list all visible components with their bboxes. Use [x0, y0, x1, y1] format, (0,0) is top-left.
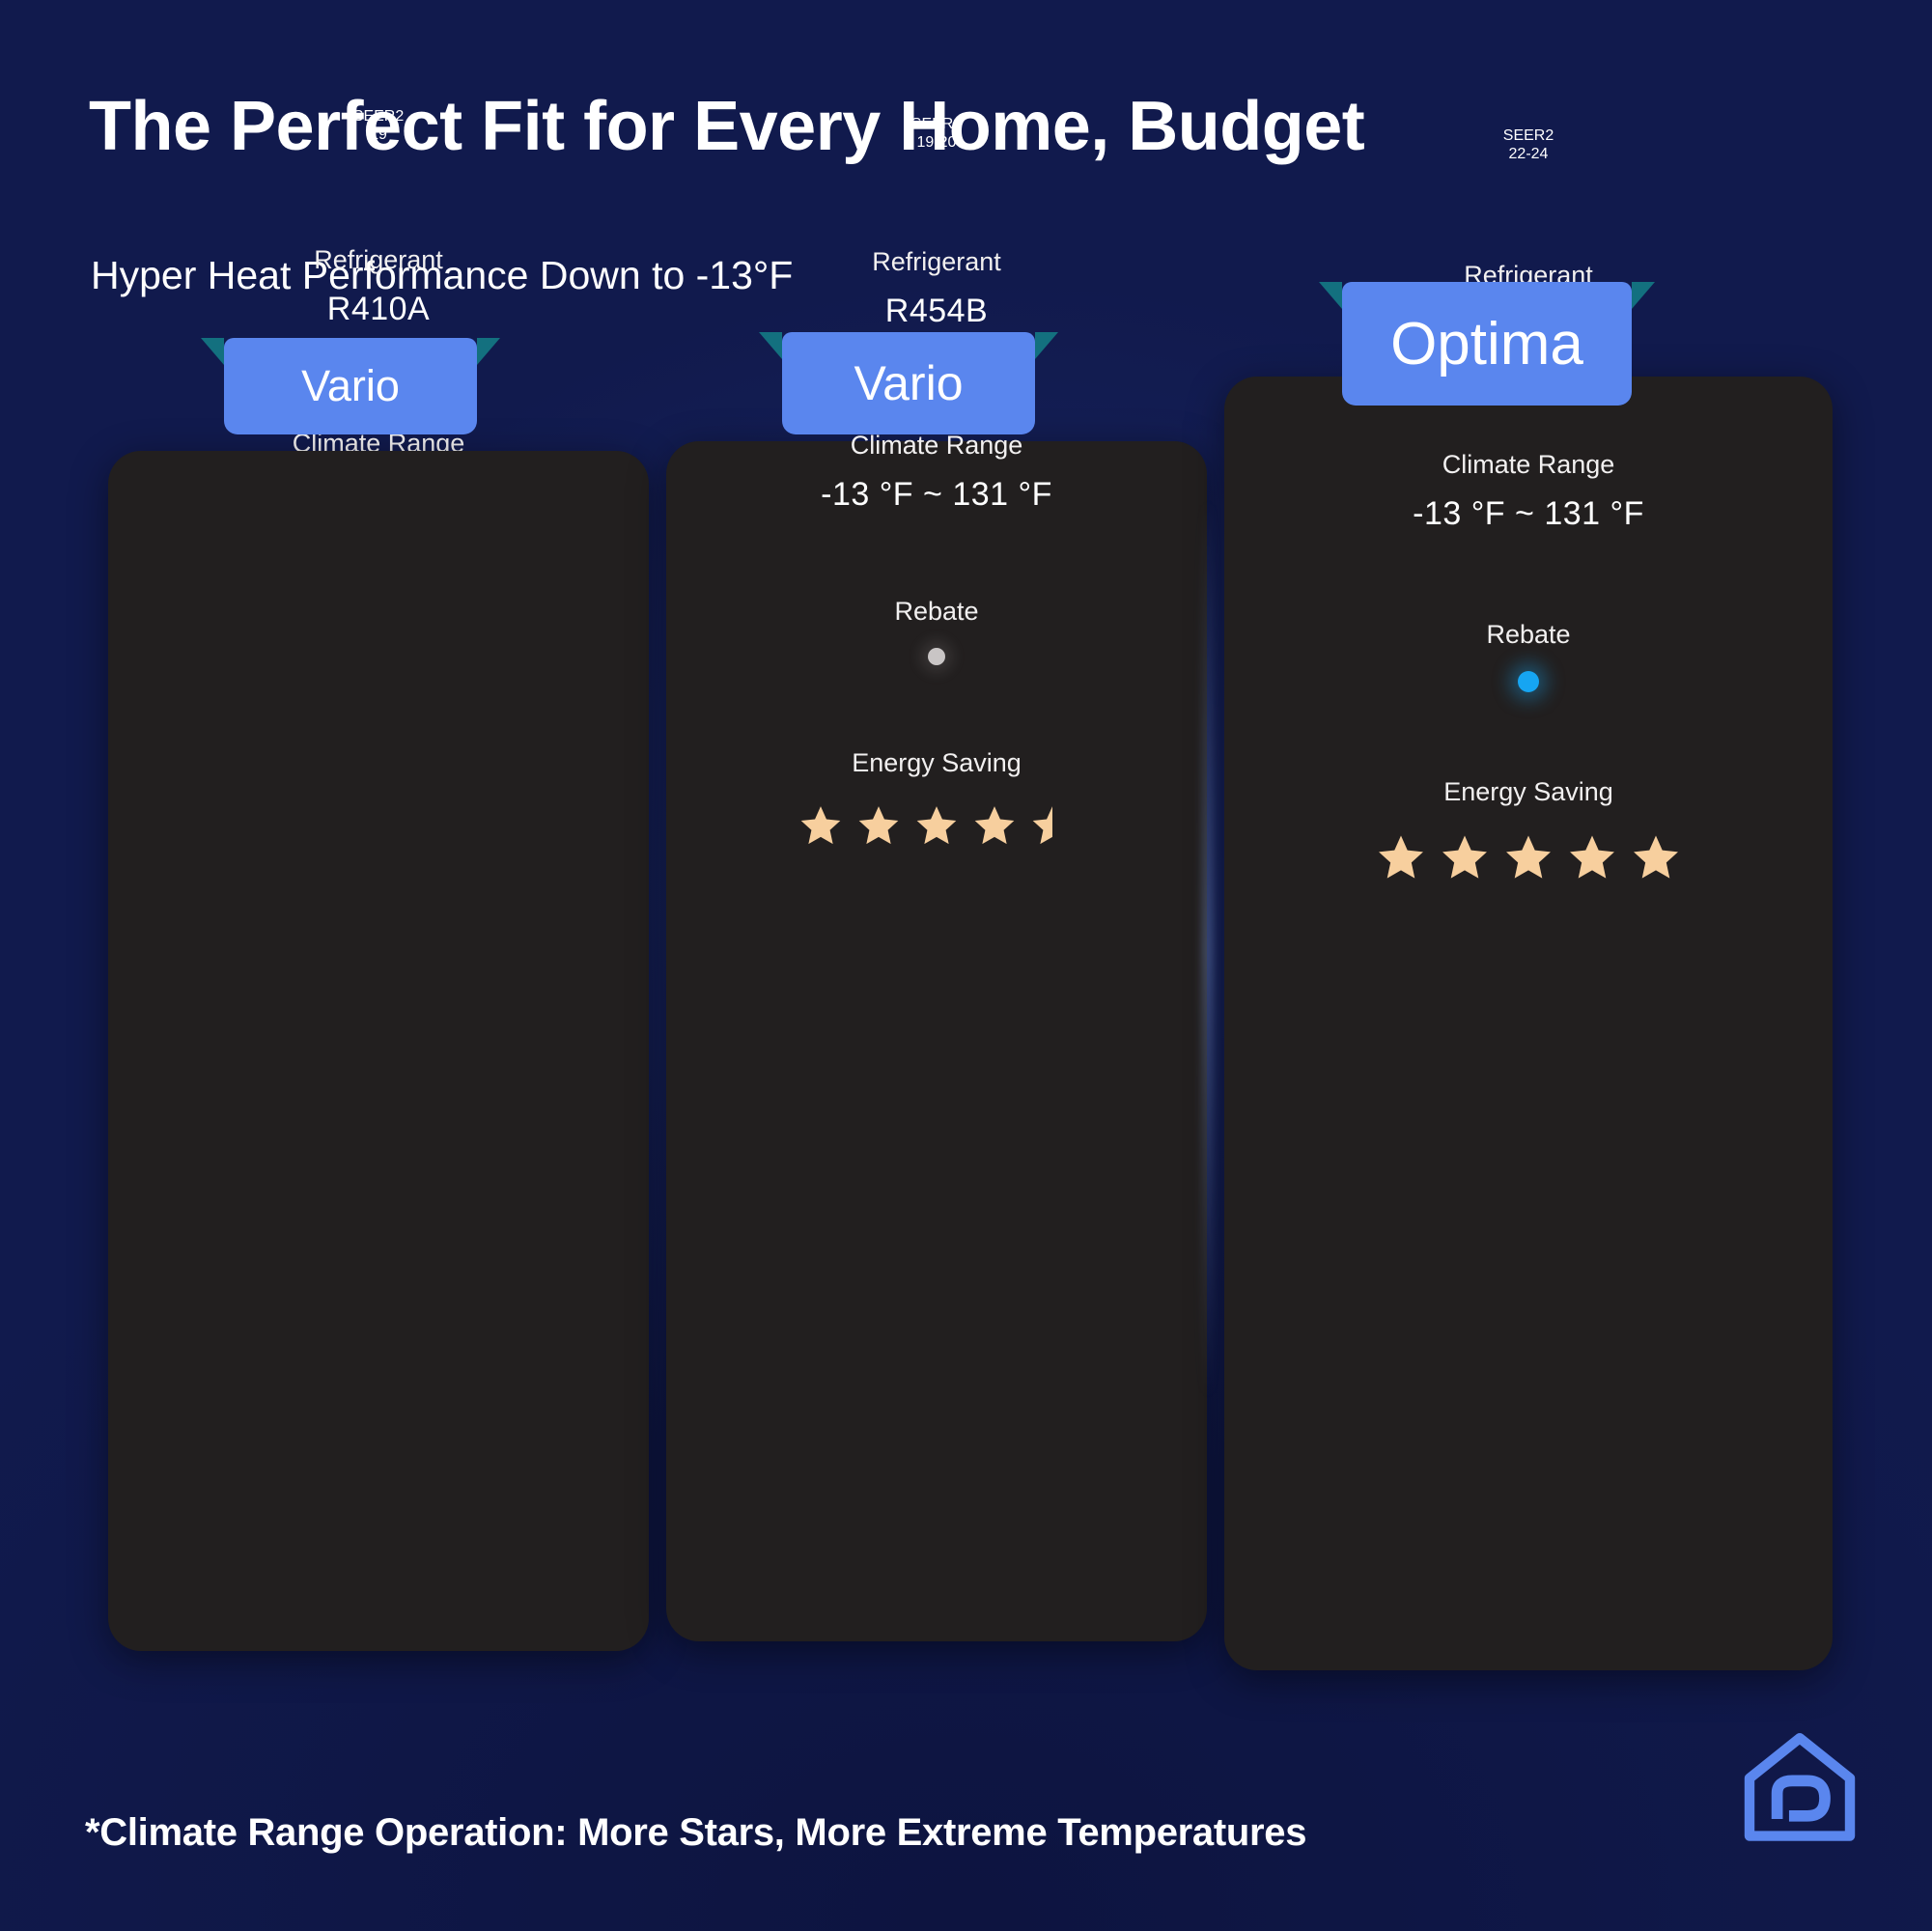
ribbon-fold-left-icon — [201, 338, 224, 365]
spec-value: -13 °F ~ 131 °F — [1224, 495, 1833, 533]
ribbon-fold-right-icon — [477, 338, 500, 365]
card-content: SEER2 22-24 Refrigerant R454B Climate Ra… — [1224, 127, 1833, 882]
ribbon-fold-left-icon — [759, 332, 782, 359]
metric-value: 22-24 — [1503, 146, 1554, 164]
spec-label: Rebate — [894, 597, 978, 627]
metric-value: 19-20 — [911, 134, 962, 153]
spec-label: Energy Saving — [1443, 777, 1613, 807]
rebate-indicator-dot — [928, 648, 945, 665]
star-icon — [856, 803, 901, 848]
star-icon — [1376, 832, 1426, 882]
spec-label: Refrigerant — [666, 247, 1207, 277]
spec-energy-saving: Energy Saving — [1224, 777, 1833, 882]
ribbon-fold-right-icon — [1035, 332, 1058, 359]
spec-label: Refrigerant — [108, 245, 649, 275]
house-logo — [1737, 1721, 1862, 1846]
spec-value: R410A — [108, 291, 649, 328]
card-content: SEER2 19-20 Refrigerant R454B Climate Ra… — [666, 116, 1207, 848]
metric-block: SEER2 19-20 — [911, 116, 962, 153]
product-card[interactable] — [108, 451, 649, 1651]
metric-label: SEER2 — [911, 116, 962, 134]
spec-label: Climate Range — [1224, 450, 1833, 480]
spec-rebate: Rebate — [1224, 620, 1833, 692]
metric-block: SEER2 22-24 — [1503, 127, 1554, 164]
spec-value: R454B — [666, 293, 1207, 330]
star-icon — [1631, 832, 1681, 882]
star-icon — [798, 803, 843, 848]
spec-label: Climate Range — [666, 431, 1207, 461]
spec-energy-saving: Energy Saving — [666, 748, 1207, 848]
product-tab-vario-2[interactable]: Vario — [782, 332, 1035, 434]
rebate-indicator-dot — [1518, 671, 1539, 692]
spec-refrigerant: Refrigerant R410A — [108, 245, 649, 328]
metric-block: SEER2 19 — [353, 108, 404, 145]
product-tab-label: Vario — [854, 355, 963, 411]
footnote: *Climate Range Operation: More Stars, Mo… — [85, 1811, 1306, 1855]
spec-climate-range: Climate Range -13 °F ~ 131 °F — [666, 431, 1207, 514]
half-star-icon — [1030, 803, 1075, 848]
metric-value: 19 — [353, 126, 404, 145]
star-rating — [1376, 832, 1681, 882]
spec-refrigerant: Refrigerant R454B — [666, 247, 1207, 330]
spec-climate-range: Climate Range -13 °F ~ 131 °F — [1224, 450, 1833, 533]
ribbon-fold-left-icon — [1319, 282, 1342, 309]
product-tab-label: Optima — [1390, 310, 1583, 378]
metric-label: SEER2 — [1503, 127, 1554, 146]
star-icon — [1503, 832, 1554, 882]
product-tab-vario-1[interactable]: Vario — [224, 338, 477, 434]
metric-label: SEER2 — [353, 108, 404, 126]
star-icon — [972, 803, 1017, 848]
spec-rebate: Rebate — [666, 597, 1207, 665]
star-rating — [798, 803, 1075, 848]
star-icon — [1567, 832, 1617, 882]
star-icon — [1440, 832, 1490, 882]
spec-label: Rebate — [1486, 620, 1570, 650]
spec-label: Energy Saving — [852, 748, 1022, 778]
ribbon-fold-right-icon — [1632, 282, 1655, 309]
product-tab-label: Vario — [301, 361, 400, 411]
spec-value: -13 °F ~ 131 °F — [666, 476, 1207, 514]
product-tab-optima[interactable]: Optima — [1342, 282, 1632, 406]
star-icon — [914, 803, 959, 848]
